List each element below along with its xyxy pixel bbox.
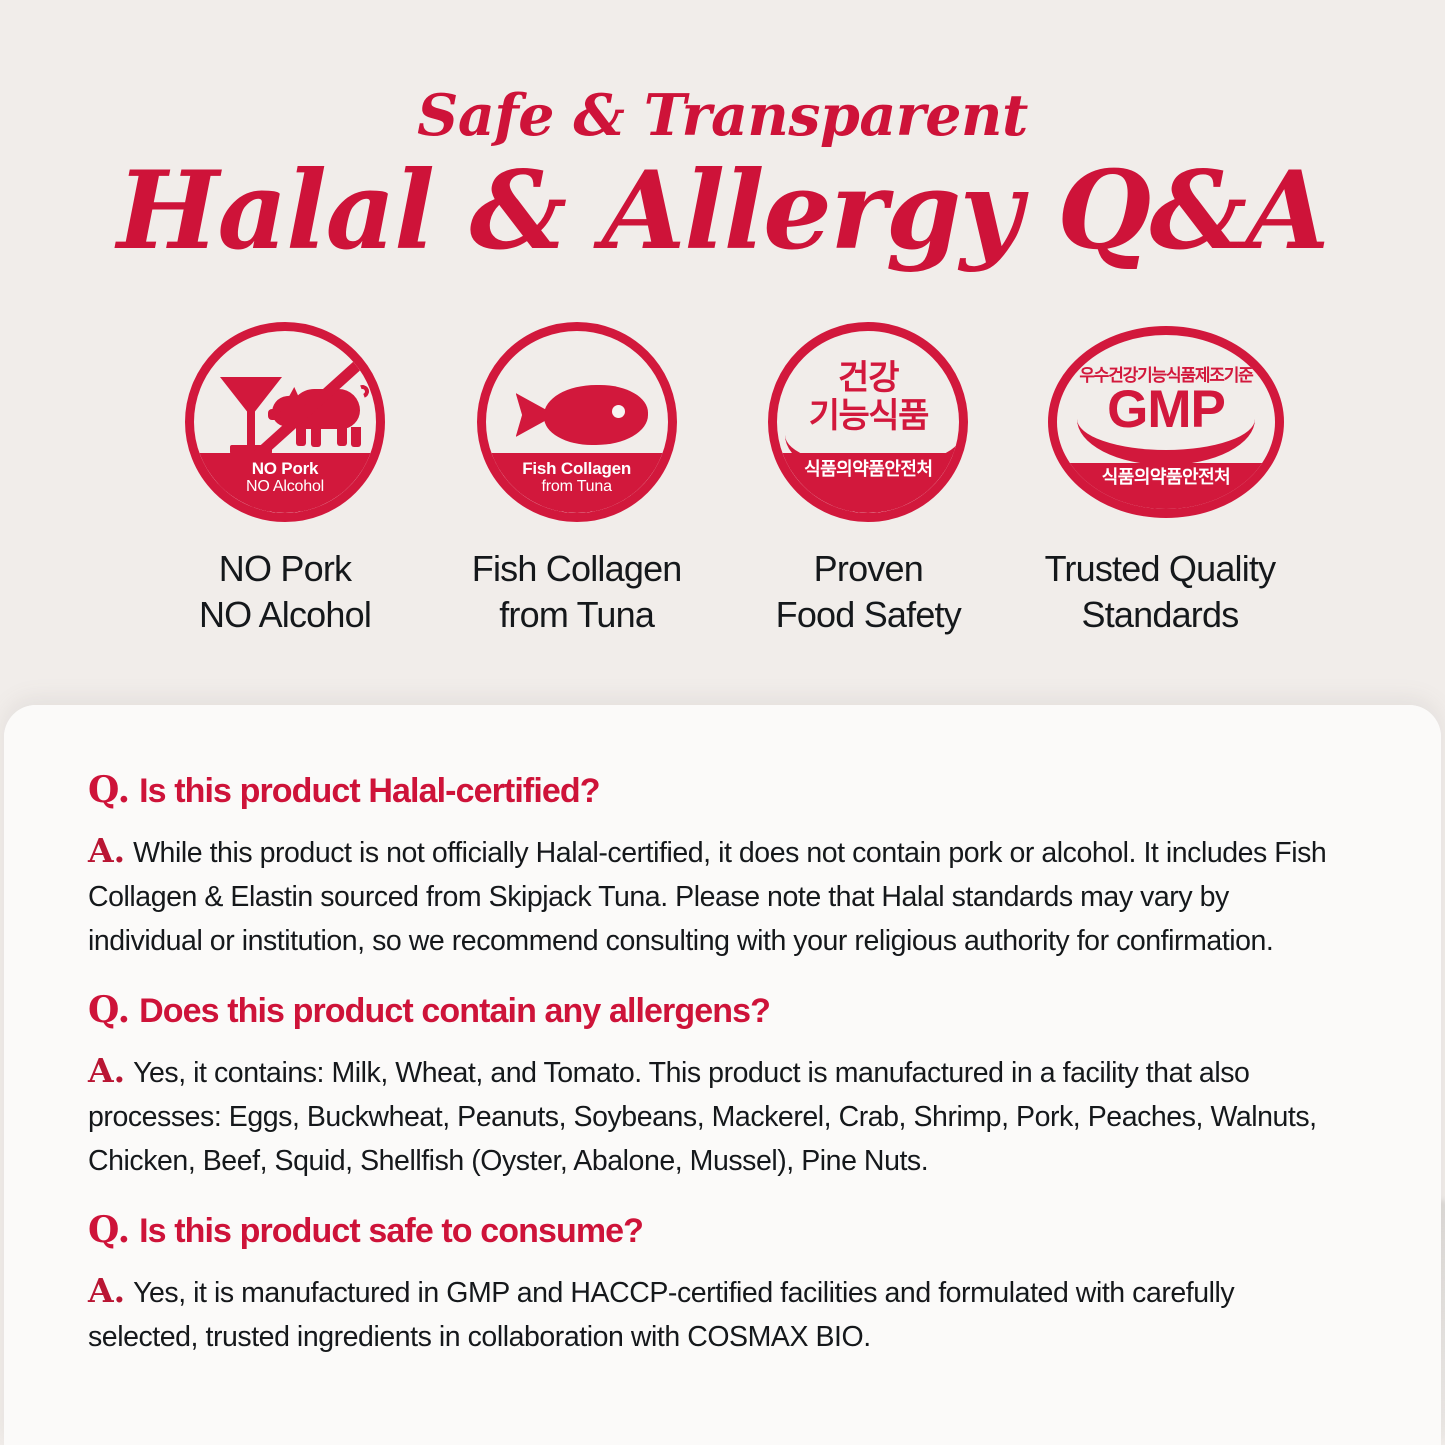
badge-band-line2: from Tuna bbox=[542, 478, 612, 496]
badge-caption-line1: Fish Collagen bbox=[472, 546, 682, 592]
badge-gmp: 우수건강기능식품제조기준 GMP 식품의약품안전처 Trusted Qualit… bbox=[1015, 322, 1305, 638]
question-marker: Q. bbox=[88, 769, 130, 812]
trust-badge-row: NO Pork NO Alcohol NO Pork NO Alcohol bbox=[140, 322, 1305, 638]
hff-mark-line2: 기능식품 bbox=[777, 397, 959, 435]
page-title: Halal & Allergy Q&A bbox=[0, 148, 1445, 274]
badge-fish-collagen: Fish Collagen from Tuna Fish Collagen fr… bbox=[432, 322, 722, 638]
hff-mark-text: 건강 기능식품 bbox=[777, 359, 959, 435]
badge-oval-outline: 우수건강기능식품제조기준 GMP 식품의약품안전처 bbox=[1048, 326, 1284, 518]
qa-item: Q. Is this product Halal-certified? A.Wh… bbox=[88, 769, 1338, 963]
gmp-certification-mark-icon: 우수건강기능식품제조기준 GMP 식품의약품안전처 bbox=[1060, 322, 1260, 522]
badge-band: 식품의약품안전처 bbox=[777, 453, 959, 513]
question-marker: Q. bbox=[88, 1209, 130, 1252]
badge-caption-line1: Proven bbox=[776, 546, 961, 592]
no-pork-no-alcohol-icon: NO Pork NO Alcohol bbox=[185, 322, 385, 522]
answer-marker: A. bbox=[88, 1271, 125, 1310]
answer-text: While this product is not officially Hal… bbox=[88, 837, 1326, 956]
badge-band: NO Pork NO Alcohol bbox=[194, 453, 376, 513]
question-marker: Q. bbox=[88, 989, 130, 1032]
badge-band-line1: Fish Collagen bbox=[522, 459, 631, 478]
badge-caption-line2: Food Safety bbox=[776, 592, 961, 638]
question-row: Q. Is this product Halal-certified? bbox=[88, 769, 1338, 812]
badge-band-line1: NO Pork bbox=[252, 459, 319, 478]
question-row: Q. Does this product contain any allerge… bbox=[88, 989, 1338, 1032]
answer-text: Yes, it is manufactured in GMP and HACCP… bbox=[88, 1277, 1234, 1353]
answer-row: A.While this product is not officially H… bbox=[88, 826, 1338, 963]
qa-item: Q. Does this product contain any allerge… bbox=[88, 989, 1338, 1183]
badge-caption-line1: Trusted Quality bbox=[1045, 546, 1276, 592]
question-text: Does this product contain any allergens? bbox=[139, 991, 770, 1032]
answer-marker: A. bbox=[88, 831, 125, 870]
answer-row: A.Yes, it is manufactured in GMP and HAC… bbox=[88, 1266, 1338, 1359]
badge-caption: Trusted Quality Standards bbox=[1045, 546, 1276, 638]
fish-icon bbox=[516, 385, 648, 445]
badge-caption: Proven Food Safety bbox=[776, 546, 961, 638]
infographic-page: 100ml 250 D Safe & Transparent Halal & A… bbox=[0, 0, 1445, 1445]
qa-list: Q. Is this product Halal-certified? A.Wh… bbox=[88, 769, 1338, 1360]
qa-card: Q. Is this product Halal-certified? A.Wh… bbox=[4, 705, 1441, 1445]
badge-circle-outline: 건강 기능식품 식품의약품안전처 bbox=[768, 322, 968, 522]
badge-band: Fish Collagen from Tuna bbox=[486, 453, 668, 513]
eyebrow-text: Safe & Transparent bbox=[0, 82, 1445, 149]
header-section: Safe & Transparent Halal & Allergy Q&A bbox=[0, 0, 1445, 706]
badge-caption-line2: from Tuna bbox=[472, 592, 682, 638]
badge-circle-outline: NO Pork NO Alcohol bbox=[185, 322, 385, 522]
badge-caption-line1: NO Pork bbox=[199, 546, 371, 592]
answer-marker: A. bbox=[88, 1051, 125, 1090]
fish-collagen-icon: Fish Collagen from Tuna bbox=[477, 322, 677, 522]
qa-item: Q. Is this product safe to consume? A.Ye… bbox=[88, 1209, 1338, 1360]
hff-mark-line1: 건강 bbox=[777, 359, 959, 397]
badge-caption: NO Pork NO Alcohol bbox=[199, 546, 371, 638]
answer-row: A.Yes, it contains: Milk, Wheat, and Tom… bbox=[88, 1046, 1338, 1183]
korea-health-functional-food-mark-icon: 건강 기능식품 식품의약품안전처 bbox=[768, 322, 968, 522]
question-row: Q. Is this product safe to consume? bbox=[88, 1209, 1338, 1252]
answer-text: Yes, it contains: Milk, Wheat, and Tomat… bbox=[88, 1057, 1317, 1176]
badge-no-pork-no-alcohol: NO Pork NO Alcohol NO Pork NO Alcohol bbox=[140, 322, 430, 638]
badge-band-line2: NO Alcohol bbox=[246, 478, 324, 496]
badge-band: 식품의약품안전처 bbox=[1048, 463, 1284, 518]
badge-health-functional-food: 건강 기능식품 식품의약품안전처 Proven Food Safety bbox=[723, 322, 1013, 638]
badge-caption-line2: NO Alcohol bbox=[199, 592, 371, 638]
badge-band-text: 식품의약품안전처 bbox=[1102, 467, 1230, 487]
badge-caption-line2: Standards bbox=[1045, 592, 1276, 638]
badge-band-text: 식품의약품안전처 bbox=[804, 459, 932, 479]
badge-caption: Fish Collagen from Tuna bbox=[472, 546, 682, 638]
question-text: Is this product safe to consume? bbox=[139, 1211, 643, 1252]
badge-circle-outline: Fish Collagen from Tuna bbox=[477, 322, 677, 522]
question-text: Is this product Halal-certified? bbox=[139, 771, 600, 812]
swoosh-icon bbox=[1077, 419, 1255, 465]
